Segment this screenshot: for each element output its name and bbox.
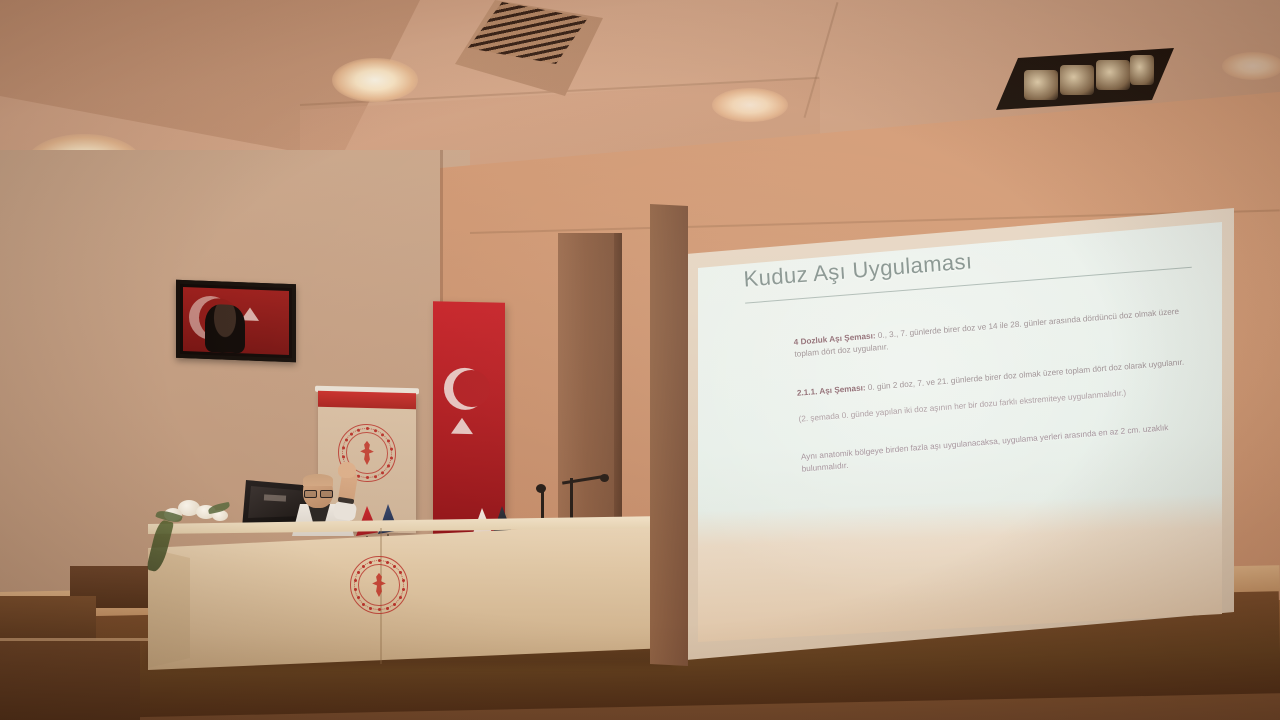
podium-desk — [148, 522, 668, 670]
slide-paragraph-text: Aynı anatomik bölgeye birden fazla aşı u… — [801, 423, 1169, 474]
screen-left-post — [650, 204, 688, 666]
recessed-downlight — [1222, 52, 1280, 80]
presenter-hand — [338, 462, 356, 478]
star-icon — [451, 418, 473, 434]
slide-paragraph: 4 Dozluk Aşı Şeması: 0., 3., 7. günlerde… — [793, 304, 1203, 361]
rollup-red-header — [318, 391, 416, 409]
slide-paragraph: Aynı anatomik bölgeye birden fazla aşı u… — [801, 419, 1211, 476]
monitor-screen — [248, 486, 306, 518]
microphone-capsule — [600, 474, 609, 482]
stage-step — [0, 596, 96, 644]
presenter-sleeve — [333, 500, 358, 521]
flower-arrangement — [152, 496, 238, 538]
step-edge-highlight — [0, 638, 150, 641]
portrait-figure — [205, 304, 245, 354]
slide-body: 4 Dozluk Aşı Şeması: 0., 3., 7. günlerde… — [793, 304, 1211, 490]
ataturk-portrait — [176, 280, 296, 363]
wood-pillar-edge — [614, 233, 622, 563]
recessed-downlight — [712, 88, 788, 122]
ministry-of-health-seal — [350, 556, 408, 614]
wood-pillar — [558, 233, 620, 563]
stage-step — [0, 640, 140, 720]
monitor-glare — [264, 494, 286, 501]
recessed-downlight — [332, 58, 418, 102]
conference-hall-photo: Kuduz Aşı Uygulaması 4 Dozluk Aşı Şeması… — [0, 0, 1280, 720]
portrait-flag-background — [183, 287, 289, 355]
slide-paragraph-lead: 2.1.1. Aşı Şeması: — [797, 383, 866, 398]
turkish-flag-banner — [433, 301, 505, 539]
microphone-capsule — [536, 484, 546, 493]
glasses-icon — [304, 490, 332, 496]
presenter-hair — [303, 474, 333, 486]
slide-content: Kuduz Aşı Uygulaması 4 Dozluk Aşı Şeması… — [700, 180, 1243, 621]
crescent-cutout — [453, 370, 490, 408]
